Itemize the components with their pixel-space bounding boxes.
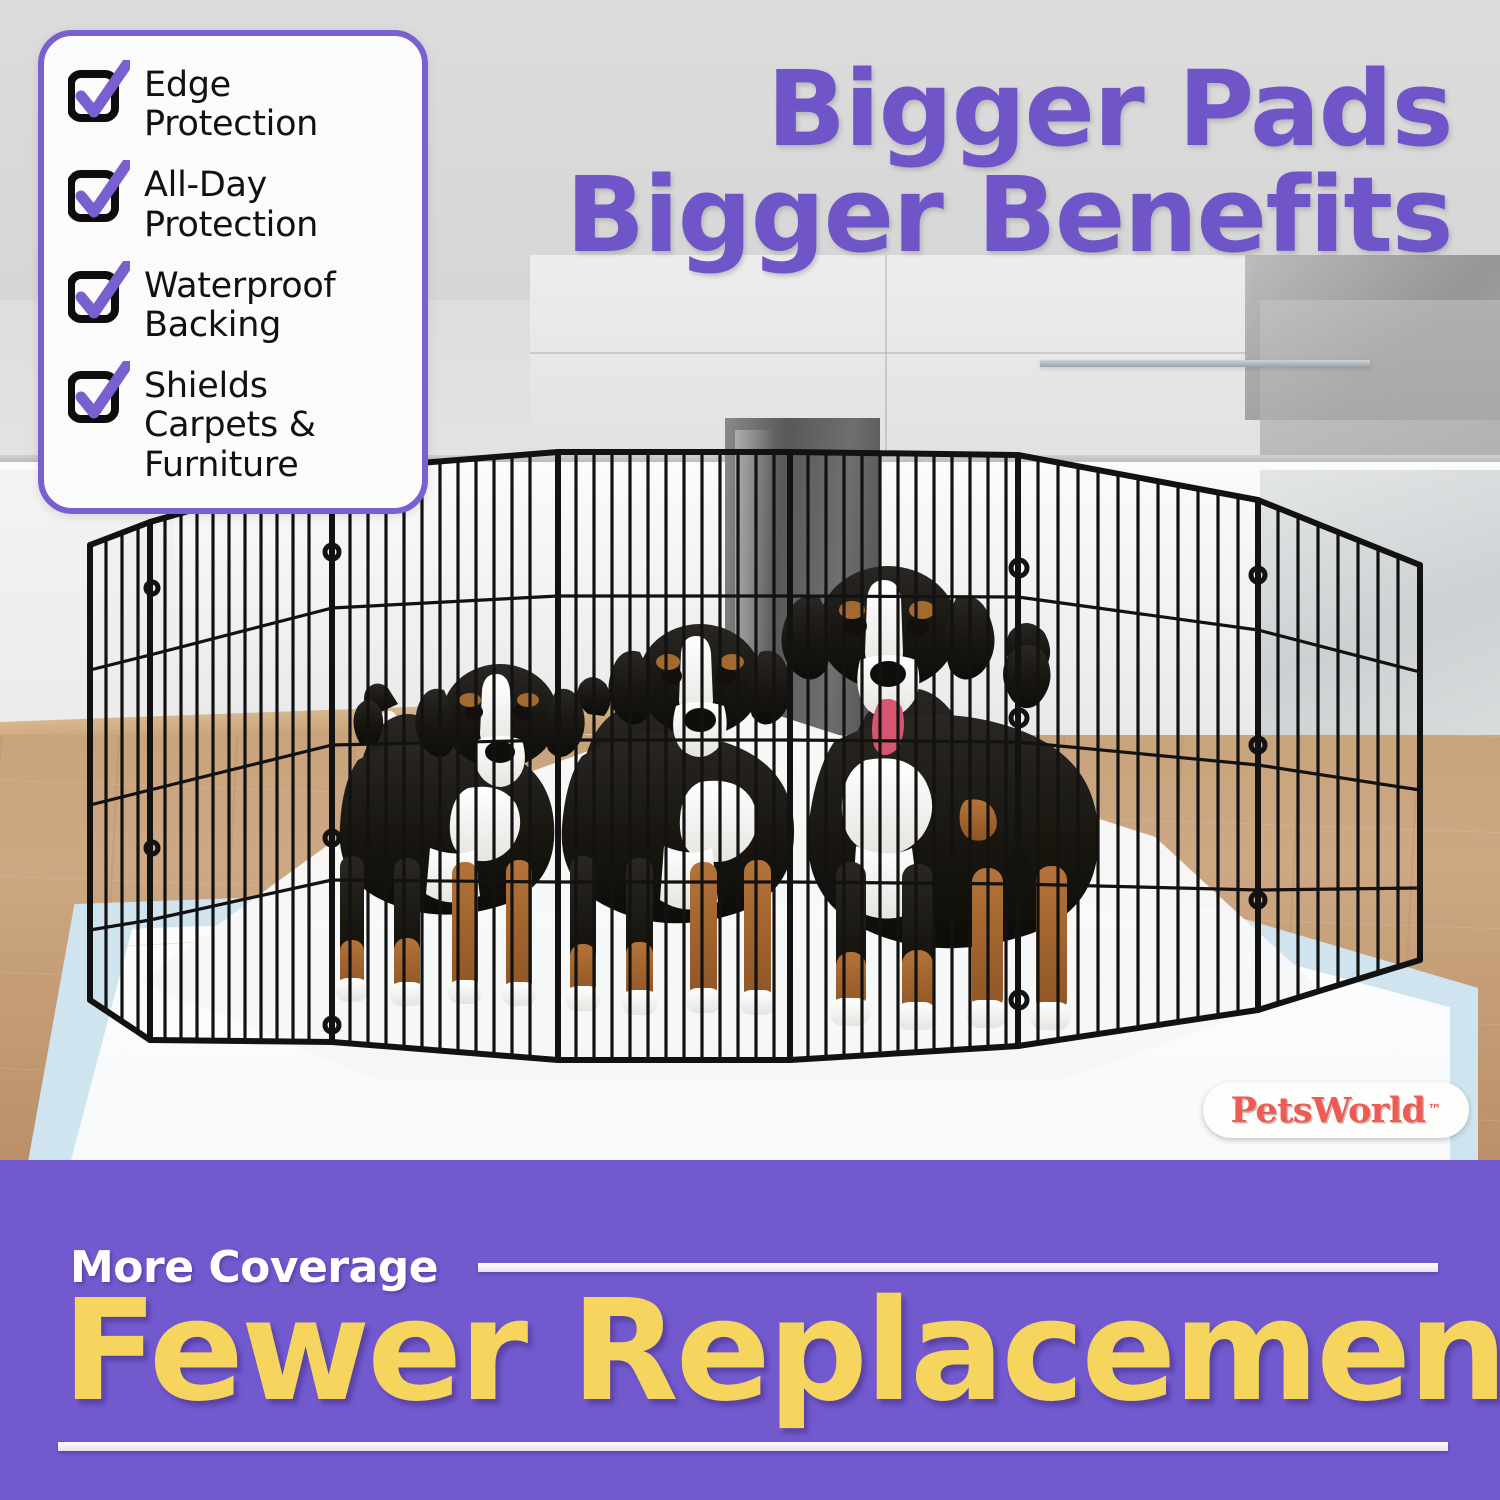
banner-rule-bottom — [58, 1442, 1448, 1451]
dog-middle — [562, 624, 794, 1015]
infographic-stage: EdgeProtection All-DayProtection — [0, 0, 1500, 1500]
feature-item: WaterproofBacking — [68, 265, 408, 345]
features-card: EdgeProtection All-DayProtection — [38, 30, 428, 514]
feature-item: ShieldsCarpets &Furniture — [68, 365, 408, 485]
feature-item: EdgeProtection — [68, 64, 408, 144]
feature-label: All-DayProtection — [144, 164, 318, 244]
banner-headline: Fewer Replacements — [62, 1282, 1452, 1422]
checkbox-check-icon — [68, 168, 130, 226]
features-list: EdgeProtection All-DayProtection — [68, 64, 408, 485]
trademark-symbol: ™ — [1428, 1102, 1442, 1118]
feature-label: WaterproofBacking — [144, 265, 335, 345]
headline-line-2: Bigger Benefits — [566, 162, 1452, 268]
dog-left — [336, 664, 585, 1006]
bottom-banner: More Coverage Fewer Replacements — [0, 1160, 1500, 1500]
feature-item: All-DayProtection — [68, 164, 408, 244]
main-headline: Bigger Pads Bigger Benefits — [566, 56, 1452, 268]
headline-line-1: Bigger Pads — [566, 56, 1452, 162]
brand-name: PetsWorld — [1230, 1090, 1425, 1131]
checkbox-check-icon — [68, 68, 130, 126]
feature-label: ShieldsCarpets &Furniture — [144, 365, 316, 485]
dog-right — [782, 566, 1099, 1030]
checkbox-check-icon — [68, 269, 130, 327]
brand-logo: PetsWorld™ — [1203, 1082, 1469, 1138]
feature-label: EdgeProtection — [144, 64, 318, 144]
checkbox-check-icon — [68, 369, 130, 427]
